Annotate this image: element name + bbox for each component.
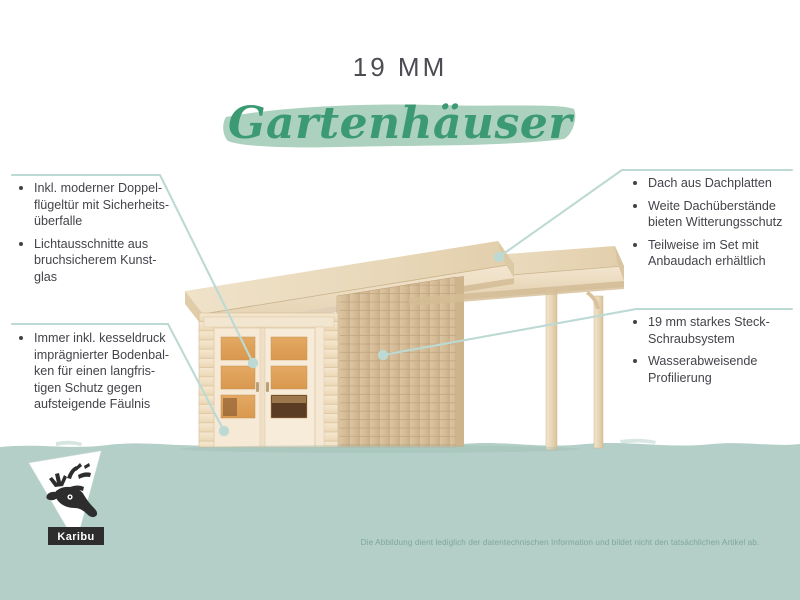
canopy-opening <box>456 276 605 447</box>
callout-top-left-list: Inkl. moderner Doppel- flügeltür mit Sic… <box>14 180 194 286</box>
callout-line: bruchsicherem Kunst- <box>34 253 157 267</box>
door-handle <box>266 382 269 392</box>
door-glass-pane <box>221 366 255 389</box>
ground-shadow <box>180 445 580 453</box>
callout-top-right: Dach aus Dachplatten Weite Dachüberständ… <box>628 175 800 276</box>
door-glass-pane <box>271 337 307 360</box>
list-item: Wasserabweisende Profilierung <box>628 353 800 386</box>
list-item: Inkl. moderner Doppel- flügeltür mit Sic… <box>14 180 194 230</box>
dot-door <box>248 358 258 368</box>
callout-top-right-list: Dach aus Dachplatten Weite Dachüberständ… <box>628 175 800 270</box>
callout-line: flügeltür mit Sicherheits- <box>34 198 169 212</box>
page-subtitle: 19 MM <box>0 52 800 83</box>
callout-line: Wasserabweisende <box>648 354 757 368</box>
list-item: Immer inkl. kesseldruck imprägnierter Bo… <box>14 330 192 413</box>
callout-line: imprägnierter Bodenbal- <box>34 348 169 362</box>
canopy-post-rear <box>594 296 603 448</box>
callout-bottom-right: 19 mm starkes Steck- Schraubsystem Wasse… <box>628 314 800 392</box>
door-glass-pane <box>271 366 307 389</box>
dot-wall <box>378 350 388 360</box>
callout-line: Profilierung <box>648 371 712 385</box>
callout-line: Immer inkl. kesseldruck <box>34 331 166 345</box>
callout-line: überfalle <box>34 214 82 228</box>
list-item: 19 mm starkes Steck- Schraubsystem <box>628 314 800 347</box>
callout-bottom-left: Immer inkl. kesseldruck imprägnierter Bo… <box>14 330 192 419</box>
callout-line: Lichtausschnitte aus <box>34 237 148 251</box>
callout-line: ken für einen langfris- <box>34 364 155 378</box>
callout-line: Dach aus Dachplatten <box>648 176 772 190</box>
callout-top-left: Inkl. moderner Doppel- flügeltür mit Sic… <box>14 180 194 292</box>
callout-line: aufsteigende Fäulnis <box>34 397 150 411</box>
list-item: Weite Dachüberstände bieten Witterungssc… <box>628 198 800 231</box>
callout-line: Weite Dachüberstände <box>648 199 776 213</box>
dot-floor-beam <box>219 426 229 436</box>
callout-line: Anbaudach erhältlich <box>648 254 766 268</box>
door-handle <box>256 382 259 392</box>
callout-bottom-left-list: Immer inkl. kesseldruck imprägnierter Bo… <box>14 330 192 413</box>
double-door <box>214 328 315 447</box>
bottom-green-band <box>0 439 800 600</box>
dot-roof <box>494 252 504 262</box>
callout-line: Inkl. moderner Doppel- <box>34 181 162 195</box>
callout-line: Teilweise im Set mit <box>648 238 759 252</box>
canopy-post-front <box>546 289 557 450</box>
list-item: Teilweise im Set mit Anbaudach erhältlic… <box>628 237 800 270</box>
logo-wordmark: Karibu <box>57 531 94 543</box>
page-title: Gartenhäuser <box>222 95 578 153</box>
canopy-posts <box>546 289 603 450</box>
callout-line: tigen Schutz gegen <box>34 381 142 395</box>
callout-line: bieten Witterungsschutz <box>648 215 782 229</box>
callout-line: Schraubsystem <box>648 332 735 346</box>
scene-graphics: Karibu <box>0 0 800 600</box>
poster-canvas: Karibu 19 MM Gartenhäuser Inkl. moderner… <box>0 0 800 600</box>
footer-disclaimer: Die Abbildung dient lediglich der datent… <box>330 538 790 547</box>
callout-line: glas <box>34 270 57 284</box>
callout-bottom-right-list: 19 mm starkes Steck- Schraubsystem Wasse… <box>628 314 800 386</box>
callout-line: 19 mm starkes Steck- <box>648 315 770 329</box>
list-item: Dach aus Dachplatten <box>628 175 800 192</box>
list-item: Lichtausschnitte aus bruchsicherem Kunst… <box>14 236 194 286</box>
page-title-wrapper: Gartenhäuser <box>0 95 800 155</box>
garden-house-illustration <box>180 241 624 453</box>
